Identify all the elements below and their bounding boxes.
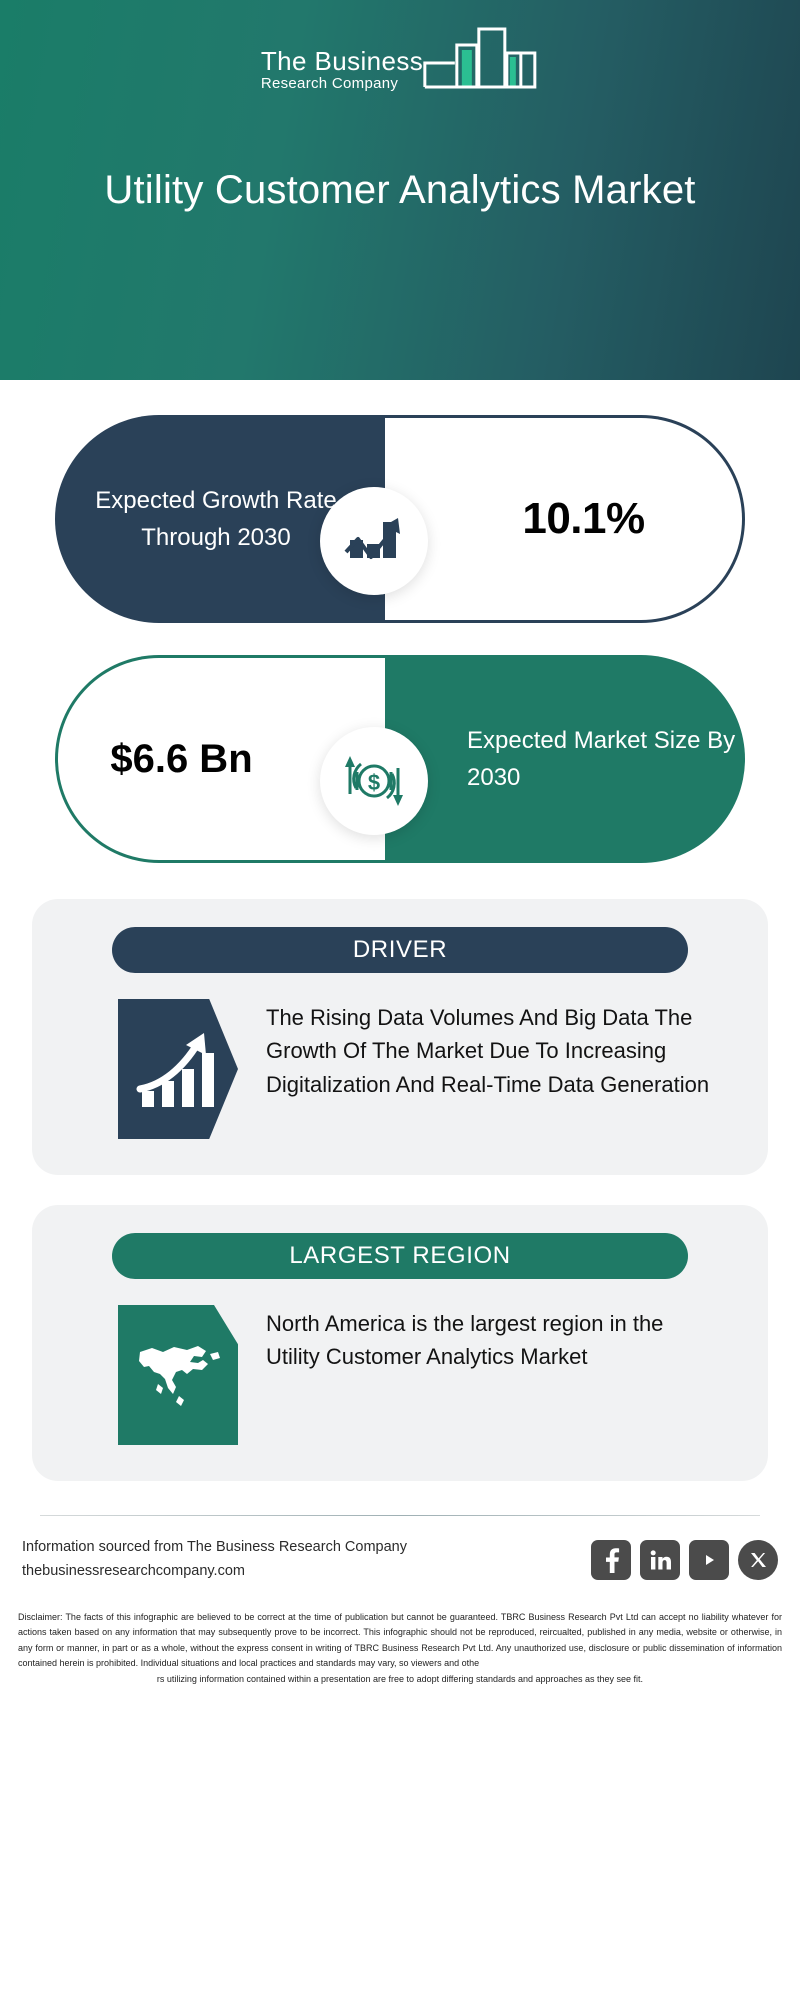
header-banner: The Business Research Company Utility Cu…: [0, 0, 800, 380]
infographic-page: The Business Research Company Utility Cu…: [0, 0, 800, 2000]
largest-region-panel: LARGEST REGION North America is the larg…: [32, 1205, 768, 1481]
market-size-label-pill: Expected Market Size By 2030: [385, 655, 745, 863]
disclaimer-last-line: rs utilizing information contained withi…: [18, 1672, 782, 1687]
growth-rate-card: Expected Growth Rate Through 2030 10.1%: [0, 395, 800, 635]
growth-rate-value-pill: 10.1%: [385, 415, 745, 623]
disclaimer-text: Disclaimer: The facts of this infographi…: [0, 1584, 800, 1687]
logo-text-block: The Business Research Company: [261, 48, 423, 96]
svg-text:$: $: [368, 770, 380, 795]
footer-top: Information sourced from The Business Re…: [0, 1516, 800, 1584]
bar-chart-growth-icon: [118, 999, 238, 1139]
facebook-icon[interactable]: [591, 1540, 631, 1580]
page-title: Utility Customer Analytics Market: [0, 165, 800, 215]
source-line-1: Information sourced from The Business Re…: [22, 1536, 407, 1560]
driver-banner: DRIVER: [112, 927, 688, 973]
linkedin-icon[interactable]: [640, 1540, 680, 1580]
north-america-map-icon: [118, 1305, 238, 1445]
market-size-value: $6.6 Bn: [110, 733, 332, 785]
driver-text: The Rising Data Volumes And Big Data The…: [266, 999, 710, 1101]
largest-region-body: North America is the largest region in t…: [32, 1279, 768, 1445]
youtube-icon[interactable]: [689, 1540, 729, 1580]
largest-region-banner: LARGEST REGION: [112, 1233, 688, 1279]
social-links: [591, 1540, 778, 1580]
dollar-exchange-icon: $: [320, 727, 428, 835]
largest-region-text: North America is the largest region in t…: [266, 1305, 710, 1374]
disclaimer-main: Disclaimer: The facts of this infographi…: [18, 1612, 782, 1668]
growth-chart-arrow-icon: [320, 487, 428, 595]
company-logo: The Business Research Company: [261, 26, 539, 96]
source-attribution: Information sourced from The Business Re…: [22, 1536, 407, 1584]
market-size-label: Expected Market Size By 2030: [385, 722, 745, 796]
x-twitter-icon[interactable]: [738, 1540, 778, 1580]
bar-chart-logo-mark: [421, 25, 539, 96]
driver-panel: DRIVER The Rising Data Volumes And Big D…: [32, 899, 768, 1175]
source-line-2[interactable]: thebusinessresearchcompany.com: [22, 1560, 407, 1584]
driver-body: The Rising Data Volumes And Big Data The…: [32, 973, 768, 1139]
logo-line-2: Research Company: [261, 76, 398, 93]
logo-line-1: The Business: [261, 48, 423, 75]
market-size-card: $6.6 Bn Expected Market Size By 2030 $: [0, 635, 800, 875]
growth-rate-value: 10.1%: [482, 494, 644, 544]
